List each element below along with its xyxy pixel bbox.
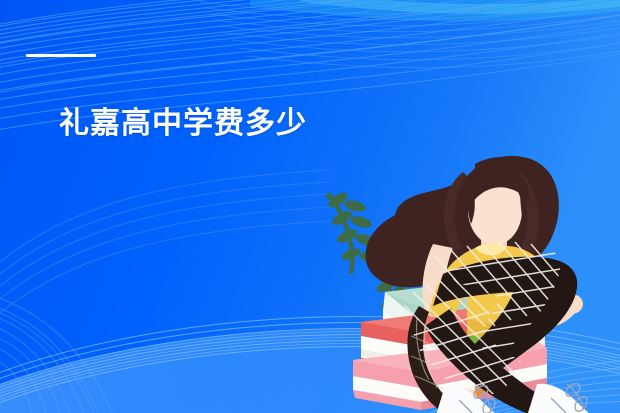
illustration-student-on-books xyxy=(325,148,620,413)
title-divider xyxy=(26,54,96,57)
page-title: 礼嘉高中学费多少 xyxy=(59,106,307,142)
banner-root: 礼嘉高中学费多少 xyxy=(0,0,620,413)
